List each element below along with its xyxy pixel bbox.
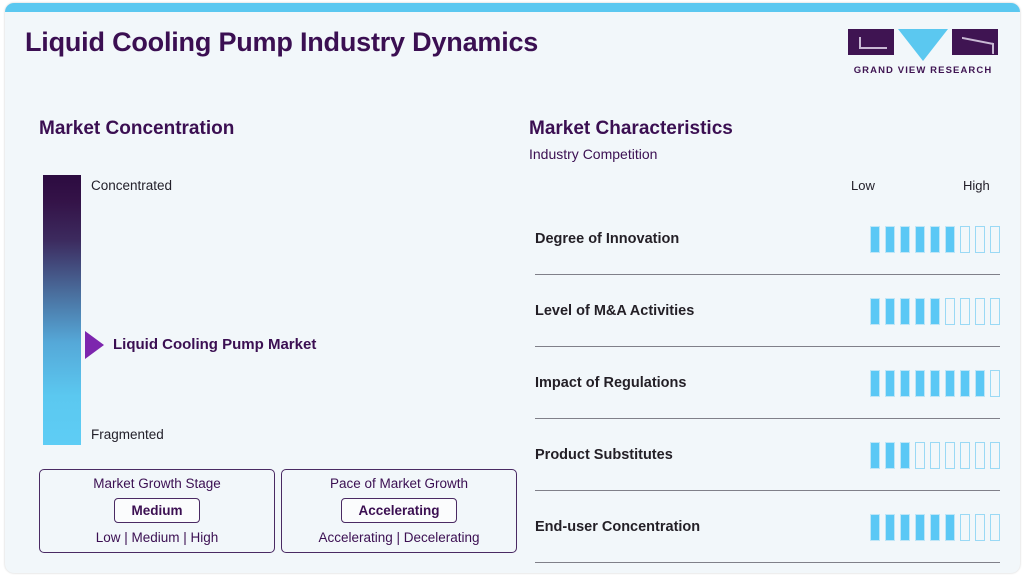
market-characteristics-title: Market Characteristics — [529, 118, 733, 140]
characteristic-row: Degree of Innovation — [535, 203, 1000, 275]
rating-tick-empty — [915, 442, 925, 469]
characteristic-row-inner: End-user Concentration — [535, 491, 1000, 563]
rating-tick-filled — [900, 370, 910, 397]
rating-tick-empty — [990, 226, 1000, 253]
rating-tick-empty — [975, 298, 985, 325]
rating-tick-empty — [975, 442, 985, 469]
market-position-label: Liquid Cooling Pump Market — [113, 336, 316, 353]
characteristic-row-inner: Impact of Regulations — [535, 347, 1000, 419]
rating-tick-filled — [885, 514, 895, 541]
rating-tick-empty — [975, 226, 985, 253]
rating-tick-empty — [930, 442, 940, 469]
page-title: Liquid Cooling Pump Industry Dynamics — [25, 27, 538, 58]
rating-tick-filled — [870, 370, 880, 397]
characteristic-label: Level of M&A Activities — [535, 303, 694, 319]
rating-tick-empty — [990, 298, 1000, 325]
rating-tick-filled — [945, 514, 955, 541]
rating-tick-empty — [945, 442, 955, 469]
rating-tick-filled — [870, 298, 880, 325]
rating-tick-filled — [915, 370, 925, 397]
rating-tick-filled — [915, 514, 925, 541]
characteristic-label: End-user Concentration — [535, 519, 700, 535]
logo-marks — [848, 29, 998, 59]
characteristic-label: Degree of Innovation — [535, 231, 679, 247]
infographic-card: Liquid Cooling Pump Industry Dynamics GR… — [5, 3, 1020, 573]
rating-tick-filled — [885, 370, 895, 397]
characteristic-row-inner: Degree of Innovation — [535, 203, 1000, 275]
pace-of-market-growth-title: Pace of Market Growth — [330, 476, 468, 491]
rating-tick-empty — [960, 514, 970, 541]
rating-tick-filled — [945, 370, 955, 397]
rating-tick-filled — [960, 370, 970, 397]
characteristic-rating-bars — [870, 370, 1000, 397]
market-growth-stage-options: Low | Medium | High — [96, 530, 219, 545]
logo-right-block-icon — [952, 29, 998, 55]
rating-tick-filled — [885, 298, 895, 325]
characteristic-label: Impact of Regulations — [535, 375, 686, 391]
market-characteristics-subtitle: Industry Competition — [529, 146, 657, 162]
rating-tick-empty — [990, 370, 1000, 397]
rating-tick-filled — [915, 226, 925, 253]
characteristic-row: Impact of Regulations — [535, 347, 1000, 419]
concentration-top-label: Concentrated — [91, 178, 172, 193]
rating-tick-filled — [870, 514, 880, 541]
rating-tick-empty — [990, 442, 1000, 469]
characteristics-rows: Degree of InnovationLevel of M&A Activit… — [535, 203, 1000, 563]
rating-tick-filled — [915, 298, 925, 325]
logo-triangle-icon — [898, 29, 948, 61]
rating-tick-filled — [900, 514, 910, 541]
characteristic-row: Product Substitutes — [535, 419, 1000, 491]
characteristic-rating-bars — [870, 514, 1000, 541]
grand-view-research-logo: GRAND VIEW RESEARCH — [848, 29, 998, 76]
rating-tick-filled — [930, 370, 940, 397]
rating-tick-filled — [930, 298, 940, 325]
rating-tick-empty — [975, 514, 985, 541]
row-separator — [535, 562, 1000, 563]
pace-of-market-growth-box: Pace of Market Growth Accelerating Accel… — [281, 469, 517, 553]
market-growth-stage-title: Market Growth Stage — [93, 476, 221, 491]
rating-tick-filled — [975, 370, 985, 397]
rating-tick-empty — [960, 226, 970, 253]
pace-of-market-growth-value: Accelerating — [341, 498, 456, 523]
rating-tick-empty — [960, 298, 970, 325]
concentration-bottom-label: Fragmented — [91, 427, 164, 442]
rating-tick-empty — [960, 442, 970, 469]
characteristic-rating-bars — [870, 226, 1000, 253]
market-growth-stage-box: Market Growth Stage Medium Low | Medium … — [39, 469, 275, 553]
market-growth-stage-value: Medium — [114, 498, 199, 523]
logo-wordmark: GRAND VIEW RESEARCH — [848, 65, 998, 76]
rating-tick-filled — [885, 226, 895, 253]
rating-tick-filled — [930, 514, 940, 541]
top-accent-bar — [5, 3, 1020, 12]
logo-left-block-icon — [848, 29, 894, 55]
market-position-marker-icon — [85, 331, 104, 359]
characteristic-row: Level of M&A Activities — [535, 275, 1000, 347]
characteristic-label: Product Substitutes — [535, 447, 673, 463]
rating-tick-empty — [990, 514, 1000, 541]
pace-of-market-growth-options: Accelerating | Decelerating — [318, 530, 479, 545]
characteristic-row-inner: Product Substitutes — [535, 419, 1000, 491]
rating-tick-filled — [870, 226, 880, 253]
scale-low-label: Low — [851, 178, 875, 193]
concentration-gradient-bar — [43, 175, 81, 445]
characteristic-rating-bars — [870, 298, 1000, 325]
scale-high-label: High — [963, 178, 990, 193]
rating-tick-filled — [885, 442, 895, 469]
rating-tick-empty — [945, 298, 955, 325]
rating-tick-filled — [900, 442, 910, 469]
rating-tick-filled — [900, 298, 910, 325]
characteristic-row: End-user Concentration — [535, 491, 1000, 563]
rating-tick-filled — [945, 226, 955, 253]
rating-tick-filled — [900, 226, 910, 253]
characteristic-row-inner: Level of M&A Activities — [535, 275, 1000, 347]
characteristic-rating-bars — [870, 442, 1000, 469]
rating-tick-filled — [870, 442, 880, 469]
rating-tick-filled — [930, 226, 940, 253]
market-concentration-title: Market Concentration — [39, 118, 234, 140]
